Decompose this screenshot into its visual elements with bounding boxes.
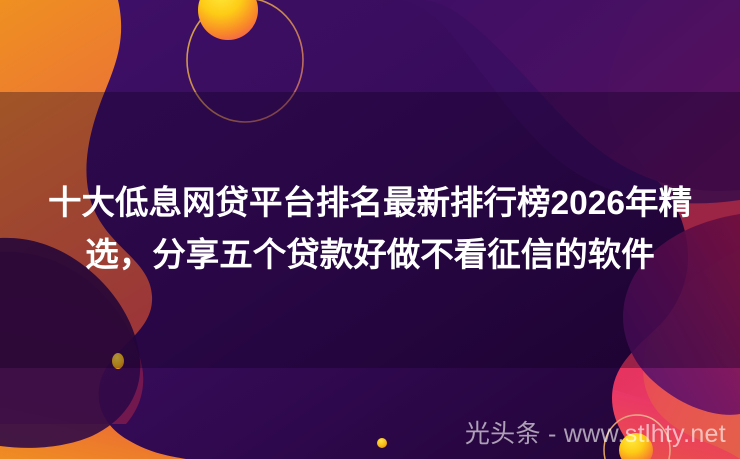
cover-image: 十大低息网贷平台排名最新排行榜2026年精选，分享五个贷款好做不看征信的软件 光…	[0, 0, 740, 459]
article-title: 十大低息网贷平台排名最新排行榜2026年精选，分享五个贷款好做不看征信的软件	[28, 178, 712, 282]
site-watermark: 光头条 - www.stlhty.net	[465, 419, 726, 449]
title-container: 十大低息网贷平台排名最新排行榜2026年精选，分享五个贷款好做不看征信的软件	[0, 0, 740, 459]
